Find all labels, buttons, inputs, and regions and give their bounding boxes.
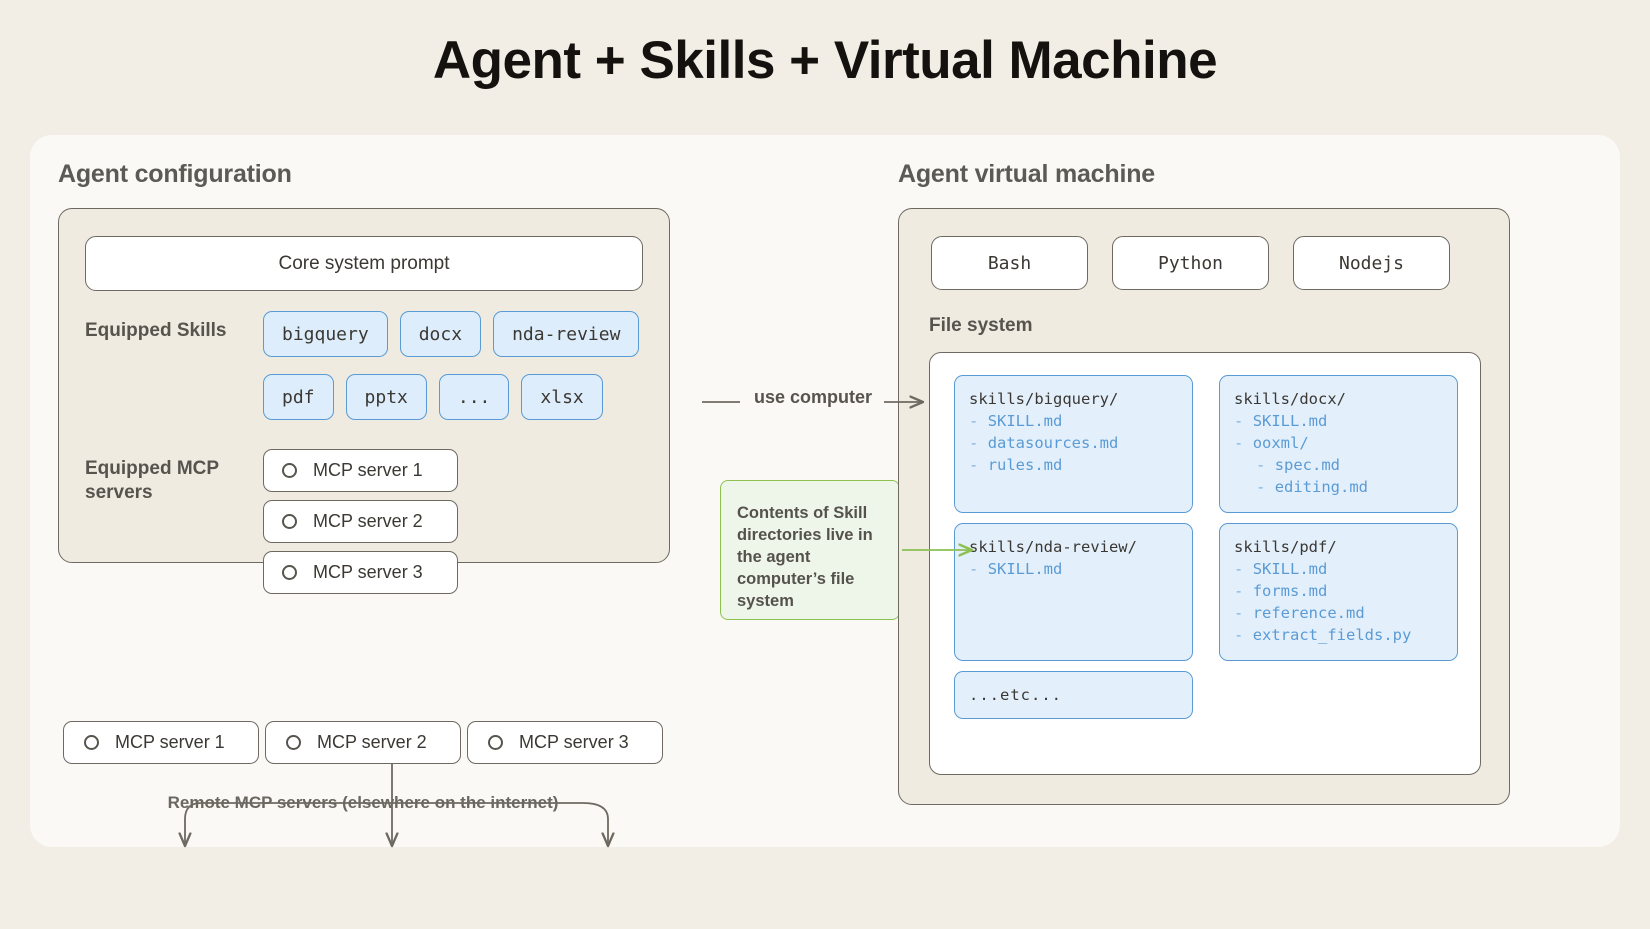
left-panel-heading: Agent configuration — [58, 160, 292, 189]
equipped-mcp-server-label: MCP server 2 — [313, 511, 423, 532]
skill-chip-docx[interactable]: docx — [400, 311, 481, 357]
skill-dir-card-bigquery: skills/bigquery/ - SKILL.md - datasource… — [954, 375, 1193, 513]
equipped-mcp-server-1[interactable]: MCP server 1 — [263, 449, 458, 492]
equipped-mcp-server-list: MCP server 1 MCP server 2 MCP server 3 — [263, 449, 458, 594]
remote-mcp-caption: Remote MCP servers (elsewhere on the int… — [63, 793, 663, 813]
skill-dir-file: - reference.md — [1234, 602, 1443, 624]
runtime-chip-label: Bash — [988, 253, 1031, 274]
runtime-chip-python[interactable]: Python — [1112, 236, 1269, 290]
skill-dir-card-nda-review: skills/nda-review/ - SKILL.md — [954, 523, 1193, 661]
skill-chip-xlsx[interactable]: xlsx — [521, 374, 602, 420]
skills-row-1: bigquery docx nda-review — [263, 311, 639, 357]
circle-icon — [282, 565, 297, 580]
runtime-chip-label: Python — [1158, 253, 1223, 274]
diagram-root: Agent + Skills + Virtual Machine Agent c… — [0, 0, 1650, 929]
skill-chip-bigquery[interactable]: bigquery — [263, 311, 388, 357]
core-system-prompt-box: Core system prompt — [85, 236, 643, 291]
runtime-chip-bash[interactable]: Bash — [931, 236, 1088, 290]
equipped-skills-label: Equipped Skills — [85, 319, 255, 343]
use-computer-label: use computer — [748, 387, 878, 408]
circle-icon — [84, 735, 99, 750]
skill-chip-pptx[interactable]: pptx — [346, 374, 427, 420]
skill-chip-label: docx — [419, 324, 462, 345]
remote-mcp-server-2[interactable]: MCP server 2 — [265, 721, 461, 764]
skill-directories-callout-text: Contents of Skill directories live in th… — [737, 504, 873, 610]
skill-dir-file: - extract_fields.py — [1234, 624, 1443, 646]
main-card: Agent configuration Core system prompt E… — [30, 135, 1620, 847]
skill-directories-callout: Contents of Skill directories live in th… — [720, 480, 900, 620]
equipped-mcp-servers-label: Equipped MCP servers — [85, 457, 260, 506]
file-system-box: skills/bigquery/ - SKILL.md - datasource… — [929, 352, 1481, 775]
skill-chip-label: bigquery — [282, 324, 369, 345]
page-title: Agent + Skills + Virtual Machine — [0, 30, 1650, 91]
right-panel-heading: Agent virtual machine — [898, 160, 1155, 189]
runtime-chip-label: Nodejs — [1339, 253, 1404, 274]
skill-dir-file: - forms.md — [1234, 580, 1443, 602]
skill-chip-label: pdf — [282, 387, 315, 408]
remote-mcp-server-row: MCP server 1 MCP server 2 MCP server 3 — [63, 721, 663, 764]
agent-configuration-box: Core system prompt Equipped Skills bigqu… — [58, 208, 670, 563]
skill-dir-card-docx: skills/docx/ - SKILL.md - ooxml/ - spec.… — [1219, 375, 1458, 513]
equipped-mcp-server-3[interactable]: MCP server 3 — [263, 551, 458, 594]
remote-mcp-server-label: MCP server 1 — [115, 732, 225, 753]
skill-dir-file: - SKILL.md — [969, 558, 1178, 580]
agent-virtual-machine-box: Bash Python Nodejs File system skills/bi… — [898, 208, 1510, 805]
circle-icon — [488, 735, 503, 750]
skill-dir-path: skills/pdf/ — [1234, 536, 1443, 558]
skill-chip-pdf[interactable]: pdf — [263, 374, 334, 420]
skill-dir-file: - SKILL.md — [1234, 410, 1443, 432]
circle-icon — [286, 735, 301, 750]
skill-dir-path: skills/nda-review/ — [969, 536, 1178, 558]
file-system-card-grid: skills/bigquery/ - SKILL.md - datasource… — [954, 375, 1458, 719]
file-system-label: File system — [929, 315, 1033, 337]
remote-mcp-server-label: MCP server 3 — [519, 732, 629, 753]
skill-dir-file: - SKILL.md — [969, 410, 1178, 432]
skill-dir-card-etc: ...etc... — [954, 671, 1193, 719]
core-system-prompt-label: Core system prompt — [278, 253, 449, 275]
skill-dir-file: - spec.md — [1234, 454, 1443, 476]
skill-chip-label: nda-review — [512, 324, 620, 345]
skill-dir-etc-label: ...etc... — [969, 684, 1178, 706]
circle-icon — [282, 463, 297, 478]
equipped-mcp-server-label: MCP server 1 — [313, 460, 423, 481]
skill-dir-file: - editing.md — [1234, 476, 1443, 498]
skill-dir-card-pdf: skills/pdf/ - SKILL.md - forms.md - refe… — [1219, 523, 1458, 661]
remote-mcp-server-1[interactable]: MCP server 1 — [63, 721, 259, 764]
skill-dir-file: - SKILL.md — [1234, 558, 1443, 580]
skill-dir-file: - ooxml/ — [1234, 432, 1443, 454]
skills-row-2: pdf pptx ... xlsx — [263, 374, 603, 420]
remote-mcp-server-3[interactable]: MCP server 3 — [467, 721, 663, 764]
circle-icon — [282, 514, 297, 529]
equipped-mcp-server-label: MCP server 3 — [313, 562, 423, 583]
skill-chip-label: pptx — [365, 387, 408, 408]
skill-chip-label: ... — [458, 387, 491, 408]
skill-chip-more[interactable]: ... — [439, 374, 510, 420]
runtime-chip-nodejs[interactable]: Nodejs — [1293, 236, 1450, 290]
equipped-mcp-server-2[interactable]: MCP server 2 — [263, 500, 458, 543]
skill-chip-nda-review[interactable]: nda-review — [493, 311, 639, 357]
runtime-chip-row: Bash Python Nodejs — [931, 236, 1450, 290]
skill-dir-path: skills/bigquery/ — [969, 388, 1178, 410]
skill-dir-file: - rules.md — [969, 454, 1178, 476]
skill-dir-file: - datasources.md — [969, 432, 1178, 454]
skill-dir-path: skills/docx/ — [1234, 388, 1443, 410]
remote-mcp-server-label: MCP server 2 — [317, 732, 427, 753]
skill-chip-label: xlsx — [540, 387, 583, 408]
